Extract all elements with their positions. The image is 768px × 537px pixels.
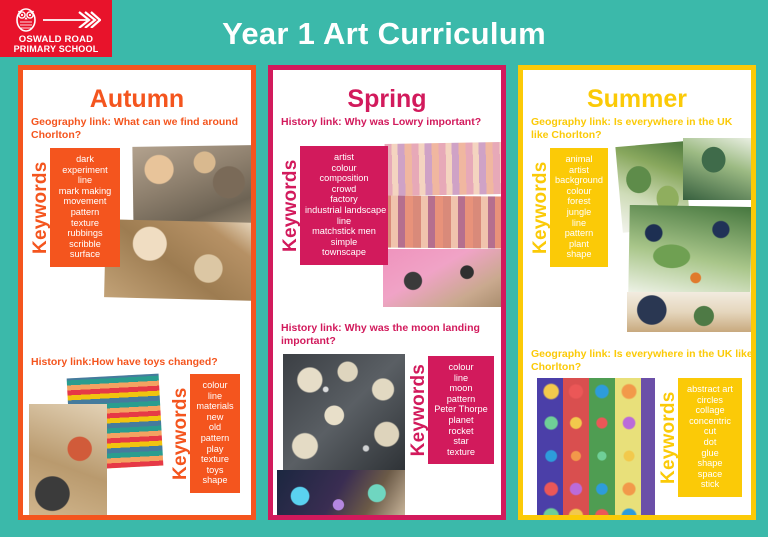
keyword-item: Peter Thorpe [433,404,489,415]
keywords-cluster-summer-1: Keywords animal artist background colour… [531,148,608,267]
keyword-item: concentric [683,416,737,427]
season-title-spring: Spring [273,86,501,112]
keywords-box-summer-1: animal artist background colour forest j… [550,148,608,267]
keywords-cluster-spring-2: Keywords colour line moon pattern Peter … [409,356,494,464]
keyword-item: dark [55,154,115,165]
keyword-item: shape [683,458,737,469]
keywords-label-summer-2: Keywords [659,378,678,497]
keyword-item: colour [305,163,383,174]
photo-summer-jungle-collage [628,205,752,299]
keyword-item: pattern [433,394,489,405]
link-text-spring-2: History link: Why was the moon landing i… [273,322,506,348]
keyword-item: planet [433,415,489,426]
photo-autumn-paper-cutting [104,219,254,301]
keywords-label-summer-1: Keywords [531,148,550,267]
link-text-autumn-1: Geography link: What can we find around … [23,116,251,142]
keywords-label-spring-1: Keywords [281,146,300,265]
keyword-item: line [555,218,603,229]
keyword-item: rocket [433,426,489,437]
keyword-item: movement [55,196,115,207]
keywords-box-autumn-1: dark experiment line mark making movemen… [50,148,120,267]
keyword-item: composition [305,173,383,184]
keyword-item: scribble [55,239,115,250]
keywords-box-summer-2: abstract art circles collage concentric … [678,378,742,497]
keyword-item: glue [683,448,737,459]
photo-spring-townscape-top [385,142,504,196]
keyword-item: dot [683,437,737,448]
link-text-autumn-2: History link:How have toys changed? [23,356,256,369]
keyword-item: forest [555,196,603,207]
keyword-item: play [195,444,235,455]
keyword-item: line [55,175,115,186]
keyword-item: cut [683,426,737,437]
keyword-item: plant [555,239,603,250]
keyword-item: abstract art [683,384,737,395]
page-title: Year 1 Art Curriculum [0,16,768,52]
photo-spring-moon-art [283,354,405,472]
keyword-item: background [555,175,603,186]
keyword-item: colour [555,186,603,197]
keyword-item: matchstick men [305,226,383,237]
keywords-box-spring-2: colour line moon pattern Peter Thorpe pl… [428,356,494,464]
keyword-item: mark making [55,186,115,197]
keyword-item: line [305,216,383,227]
keywords-cluster-spring-1: Keywords artist colour composition crowd… [281,146,388,265]
keywords-cluster-summer-2: Keywords abstract art circles collage co… [659,378,742,497]
season-title-autumn: Autumn [23,86,251,112]
keyword-item: surface [55,249,115,260]
keyword-item: artist [305,152,383,163]
season-title-summer: Summer [523,86,751,112]
keyword-item: colour [195,380,235,391]
keyword-item: animal [555,154,603,165]
keyword-item: crowd [305,184,383,195]
keyword-item: new [195,412,235,423]
keywords-label-spring-2: Keywords [409,356,428,464]
keyword-item: stick [683,479,737,490]
keyword-item: collage [683,405,737,416]
link-text-spring-1: History link: Why was Lowry important? [273,116,501,129]
keyword-item: colour [433,362,489,373]
photo-summer-leaf-painting-2 [683,138,751,200]
photo-spring-firework-art [277,470,405,520]
keyword-item: simple [305,237,383,248]
keyword-item: line [433,373,489,384]
season-panel-spring: Spring History link: Why was Lowry impor… [268,65,506,520]
photo-autumn-craft-table [29,404,107,520]
keyword-item: star [433,436,489,447]
keyword-item: old [195,422,235,433]
keyword-item: factory [305,194,383,205]
link-text-summer-2: Geography link: Is everywhere in the UK … [523,348,756,374]
keyword-item: texture [433,447,489,458]
keyword-item: artist [555,165,603,176]
photo-spring-townscape-bottom [383,195,503,248]
keyword-item: pattern [555,228,603,239]
keywords-cluster-autumn-2: Keywords colour line materials new old p… [171,374,240,493]
keywords-label-autumn-2: Keywords [171,374,190,493]
keyword-item: circles [683,395,737,406]
keyword-item: rubbings [55,228,115,239]
keyword-item: texture [195,454,235,465]
keyword-item: shape [195,475,235,486]
keyword-item: industrial landscape [305,205,383,216]
keyword-item: toys [195,465,235,476]
keyword-item: texture [55,218,115,229]
keyword-item: materials [195,401,235,412]
keyword-item: moon [433,383,489,394]
season-panel-autumn: Autumn Geography link: What can we find … [18,65,256,520]
keyword-item: line [195,391,235,402]
keyword-item: shape [555,249,603,260]
keyword-item: pattern [195,433,235,444]
photo-summer-kandinsky-circles [537,378,655,520]
keyword-item: townscape [305,247,383,258]
season-panel-summer: Summer Geography link: Is everywhere in … [518,65,756,520]
keywords-cluster-autumn-1: Keywords dark experiment line mark makin… [31,148,120,267]
keywords-box-autumn-2: colour line materials new old pattern pl… [190,374,240,493]
keyword-item: pattern [55,207,115,218]
photo-spring-classroom-pink [383,249,503,307]
keyword-item: space [683,469,737,480]
keyword-item: experiment [55,165,115,176]
keywords-label-autumn-1: Keywords [31,148,50,267]
keyword-item: jungle [555,207,603,218]
photo-summer-desk-work [627,292,751,332]
keywords-box-spring-1: artist colour composition crowd factory … [300,146,388,265]
